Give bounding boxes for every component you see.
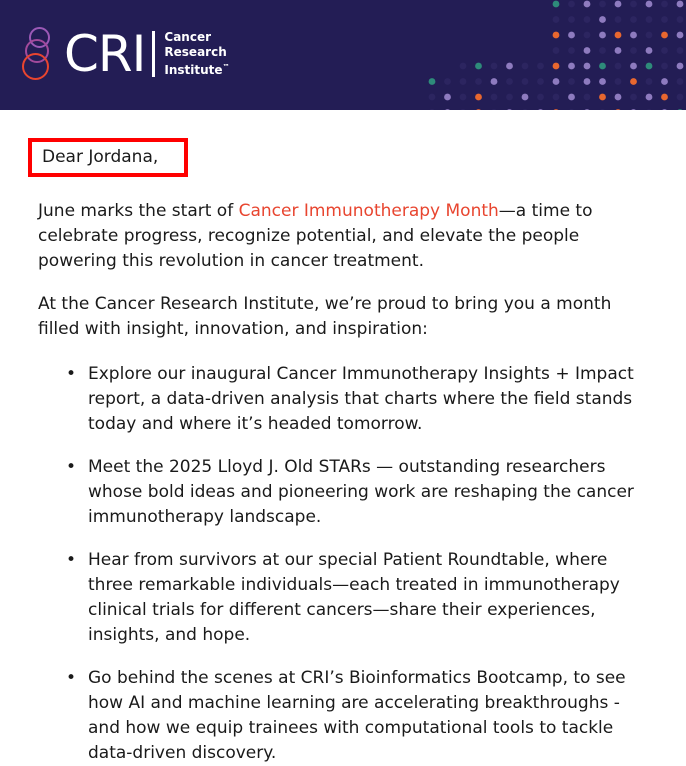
email-body: Dear Jordana, June marks the start of Ca… — [0, 110, 686, 766]
logo-acronym: CRI — [64, 29, 145, 79]
second-paragraph: At the Cancer Research Institute, we’re … — [38, 292, 638, 342]
trademark-symbol: ™ — [223, 63, 230, 71]
cancer-immunotherapy-month-link[interactable]: Cancer Immunotherapy Month — [239, 201, 499, 221]
logo-divider — [152, 31, 155, 77]
salutation-highlight-box: Dear Jordana, — [28, 138, 188, 177]
list-item: Meet the 2025 Lloyd J. Old STARs — outst… — [66, 455, 648, 530]
intro-paragraph: June marks the start of Cancer Immunothe… — [38, 199, 638, 274]
salutation-text: Dear Jordana, — [42, 147, 158, 167]
list-item: Hear from survivors at our special Patie… — [66, 548, 648, 648]
cri-logo[interactable]: CRI Cancer Research Institute™ — [22, 18, 230, 90]
logo-name-line-3: Institute™ — [164, 60, 229, 78]
three-overlapping-circles-icon — [22, 23, 60, 85]
list-item: Go behind the scenes at CRI’s Bioinforma… — [66, 666, 648, 766]
dot-grid-decoration — [426, 0, 686, 110]
logo-name-line-2: Research — [164, 45, 229, 60]
logo-ring-bottom — [22, 53, 49, 80]
logo-name-line-1: Cancer — [164, 30, 229, 45]
list-item: Explore our inaugural Cancer Immunothera… — [66, 362, 648, 437]
intro-text-before-link: June marks the start of — [38, 201, 239, 221]
highlights-list: Explore our inaugural Cancer Immunothera… — [38, 362, 648, 766]
logo-name-line-3-text: Institute — [164, 63, 222, 77]
logo-full-name: Cancer Research Institute™ — [164, 30, 229, 78]
email-header-banner: CRI Cancer Research Institute™ — [0, 0, 686, 110]
